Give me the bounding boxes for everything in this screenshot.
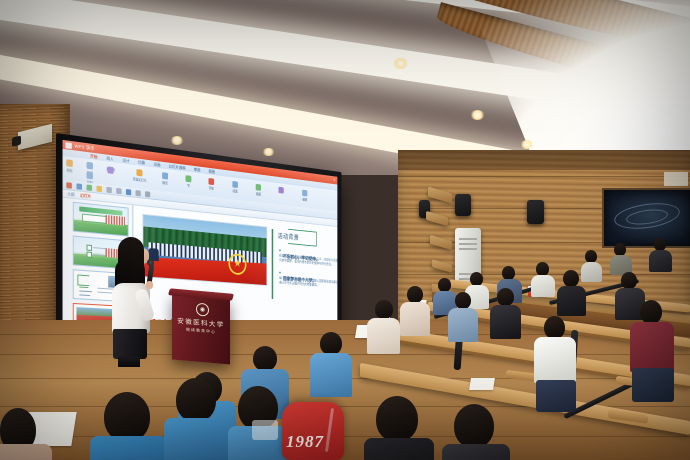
- presenter-skirt: [113, 329, 147, 359]
- downlight-icon: [520, 140, 534, 149]
- ribbon-group-layout[interactable]: 版式: [162, 172, 168, 185]
- close-icon[interactable]: ×: [333, 178, 335, 183]
- ribbon-label: 字体: [209, 185, 214, 190]
- slide-divider: [272, 229, 273, 299]
- wall-sign: [664, 172, 688, 186]
- microphone-head-icon: [147, 259, 154, 266]
- thumbnail-slide-1[interactable]: 1: [73, 202, 129, 237]
- ribbon-group-edit[interactable]: 编辑: [302, 190, 307, 202]
- new-slide-icon: [137, 169, 143, 176]
- ribbon-group-new-slide[interactable]: 新建幻灯片: [133, 169, 147, 183]
- section-icon: [186, 175, 192, 182]
- thumb-outline-graphic: [77, 274, 89, 286]
- downlight-icon: [262, 148, 275, 156]
- save-icon[interactable]: [66, 182, 72, 189]
- ribbon-label: 节: [187, 183, 190, 188]
- slide-heading: 活动背景: [278, 230, 299, 241]
- ribbon-label: 绘图: [256, 191, 261, 196]
- cloud-icon[interactable]: [106, 186, 111, 192]
- text-tool-icon[interactable]: [126, 188, 131, 194]
- backpack-label: 1987: [286, 432, 338, 452]
- ribbon-label: 版式: [162, 180, 167, 185]
- edit-icon: [302, 190, 307, 197]
- cut-icon: [87, 162, 93, 170]
- ribbon-group-format-painter[interactable]: 格式刷: [106, 166, 115, 172]
- wps-logo-icon: [65, 142, 71, 149]
- font-icon: [208, 178, 214, 185]
- arrange-icon: [278, 187, 283, 194]
- camera-lens-icon: [12, 135, 21, 146]
- color-icon[interactable]: [145, 191, 150, 197]
- downlight-icon: [392, 58, 409, 69]
- ribbon-group-arrange[interactable]: 排列: [278, 187, 283, 192]
- presenter-legs: [118, 357, 140, 367]
- layout-icon: [162, 172, 168, 179]
- thumb-people-graphic: [106, 215, 126, 226]
- ribbon-group-paste[interactable]: 粘贴: [66, 159, 72, 173]
- downlight-icon: [470, 110, 485, 120]
- slide-bullet-1-sub: 在新时代坚持和发展中国特色社会主义，实现中华民族伟大复兴的中国梦，是当代青年的历…: [279, 254, 337, 269]
- podium: ◉ 安徽医科大学 继续教育中心: [172, 293, 230, 364]
- copy-icon: [87, 172, 93, 180]
- lecture-hall-photo: WPS 演示 × 开始 插入 设计 切换 动画 幻灯片放映 审阅 视图 粘贴: [0, 0, 690, 460]
- red-backpack: 1987: [282, 402, 344, 460]
- ribbon-group-section[interactable]: 节: [186, 175, 192, 188]
- presenter: [102, 237, 164, 365]
- paragraph-icon: [232, 181, 237, 188]
- format-painter-icon: [108, 166, 114, 174]
- university-crest-icon: ◉: [196, 303, 209, 317]
- ribbon-group-paragraph[interactable]: 段落: [232, 181, 237, 194]
- paste-icon: [66, 159, 72, 167]
- align-icon[interactable]: [136, 190, 141, 196]
- ribbon-label: 粘贴: [67, 167, 73, 173]
- speaker-icon: [527, 200, 544, 224]
- ribbon-group-draw[interactable]: 绘图: [256, 184, 261, 196]
- view-outline[interactable]: 大纲: [67, 191, 74, 198]
- ribbon-label: 编辑: [302, 197, 307, 202]
- more-icon[interactable]: [116, 187, 121, 193]
- slide-bullet-2-sub: 每一个青年人都应当把自身理想融入国家和民族的事业中，在奋斗中书写无愧于时代的青春…: [279, 276, 337, 290]
- redo-icon[interactable]: [87, 184, 92, 191]
- paper-icon: [469, 378, 495, 390]
- ribbon-group-font[interactable]: 字体: [208, 178, 214, 191]
- presenter-hand: [146, 281, 153, 289]
- speaker-icon: [455, 194, 471, 216]
- print-icon[interactable]: [97, 185, 102, 191]
- ribbon-label: 段落: [233, 188, 238, 193]
- downlight-icon: [170, 136, 184, 145]
- view-slides[interactable]: 幻灯片: [80, 192, 91, 199]
- youth-league-emblem-icon: ★: [228, 253, 246, 275]
- wall-monitor: [602, 188, 690, 248]
- undo-icon[interactable]: [76, 183, 82, 190]
- volunteer-vest-print: [252, 420, 278, 440]
- wall-shadow: [398, 150, 690, 170]
- shapes-icon: [256, 184, 261, 191]
- ribbon-label: 新建幻灯片: [133, 176, 147, 182]
